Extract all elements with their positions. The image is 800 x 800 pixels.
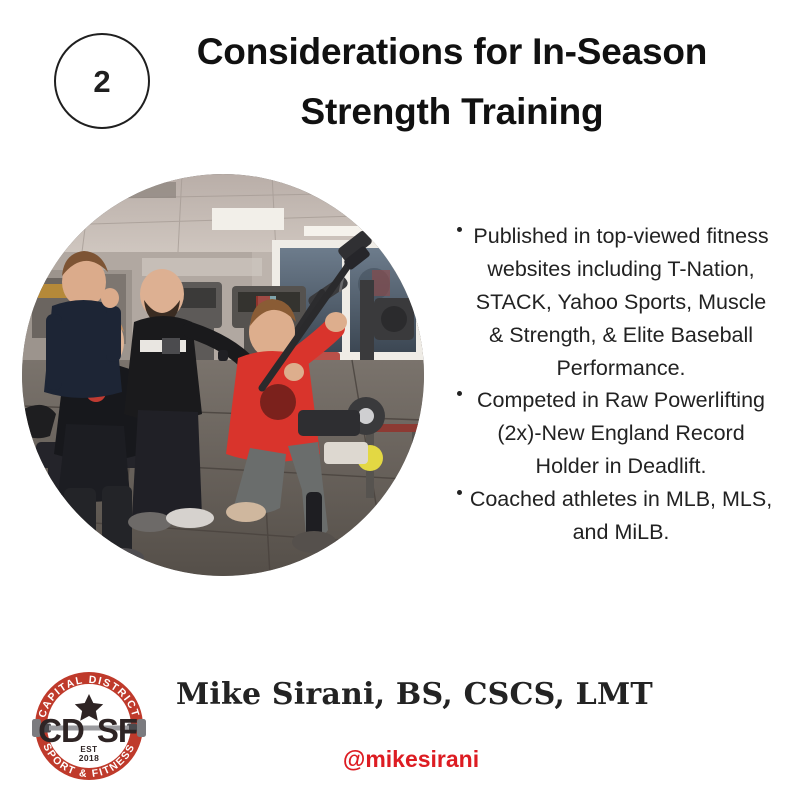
presenter-name: Mike Sirani, BS, CSCS, LMT bbox=[176, 677, 646, 712]
list-item-text: Competed in Raw Powerlifting (2x)-New En… bbox=[452, 384, 782, 483]
list-item: Published in top-viewed fitness websites… bbox=[452, 220, 782, 384]
logo-established-year: 2018 bbox=[79, 753, 100, 763]
list-item: Competed in Raw Powerlifting (2x)-New En… bbox=[452, 384, 782, 483]
credentials-list: Published in top-viewed fitness websites… bbox=[452, 220, 782, 549]
social-handle[interactable]: @mikesirani bbox=[176, 746, 646, 773]
list-item: Coached athletes in MLB, MLS, and MiLB. bbox=[452, 483, 782, 549]
list-item-text: Published in top-viewed fitness websites… bbox=[452, 220, 782, 384]
step-number-label: 2 bbox=[93, 66, 110, 97]
logo-mark-icon: CAPITAL DISTRICT SPORT & FITNESS CD SF E… bbox=[24, 670, 154, 782]
list-item-text: Coached athletes in MLB, MLS, and MiLB. bbox=[452, 483, 782, 549]
logo-monogram-left: CD bbox=[38, 712, 84, 749]
bullet-dot-icon bbox=[457, 227, 462, 232]
slide-footer: CAPITAL DISTRICT SPORT & FITNESS CD SF E… bbox=[0, 648, 800, 800]
page-title: Considerations for In-Season Strength Tr… bbox=[170, 22, 734, 142]
slide-header: 2 Considerations for In-Season Strength … bbox=[0, 0, 800, 160]
gym-photo-illustration bbox=[22, 174, 424, 576]
capital-district-sport-and-fitness-logo: CAPITAL DISTRICT SPORT & FITNESS CD SF E… bbox=[24, 670, 154, 782]
step-number-badge: 2 bbox=[54, 33, 150, 129]
gym-photo bbox=[22, 174, 424, 576]
logo-monogram-right: SF bbox=[97, 712, 137, 749]
